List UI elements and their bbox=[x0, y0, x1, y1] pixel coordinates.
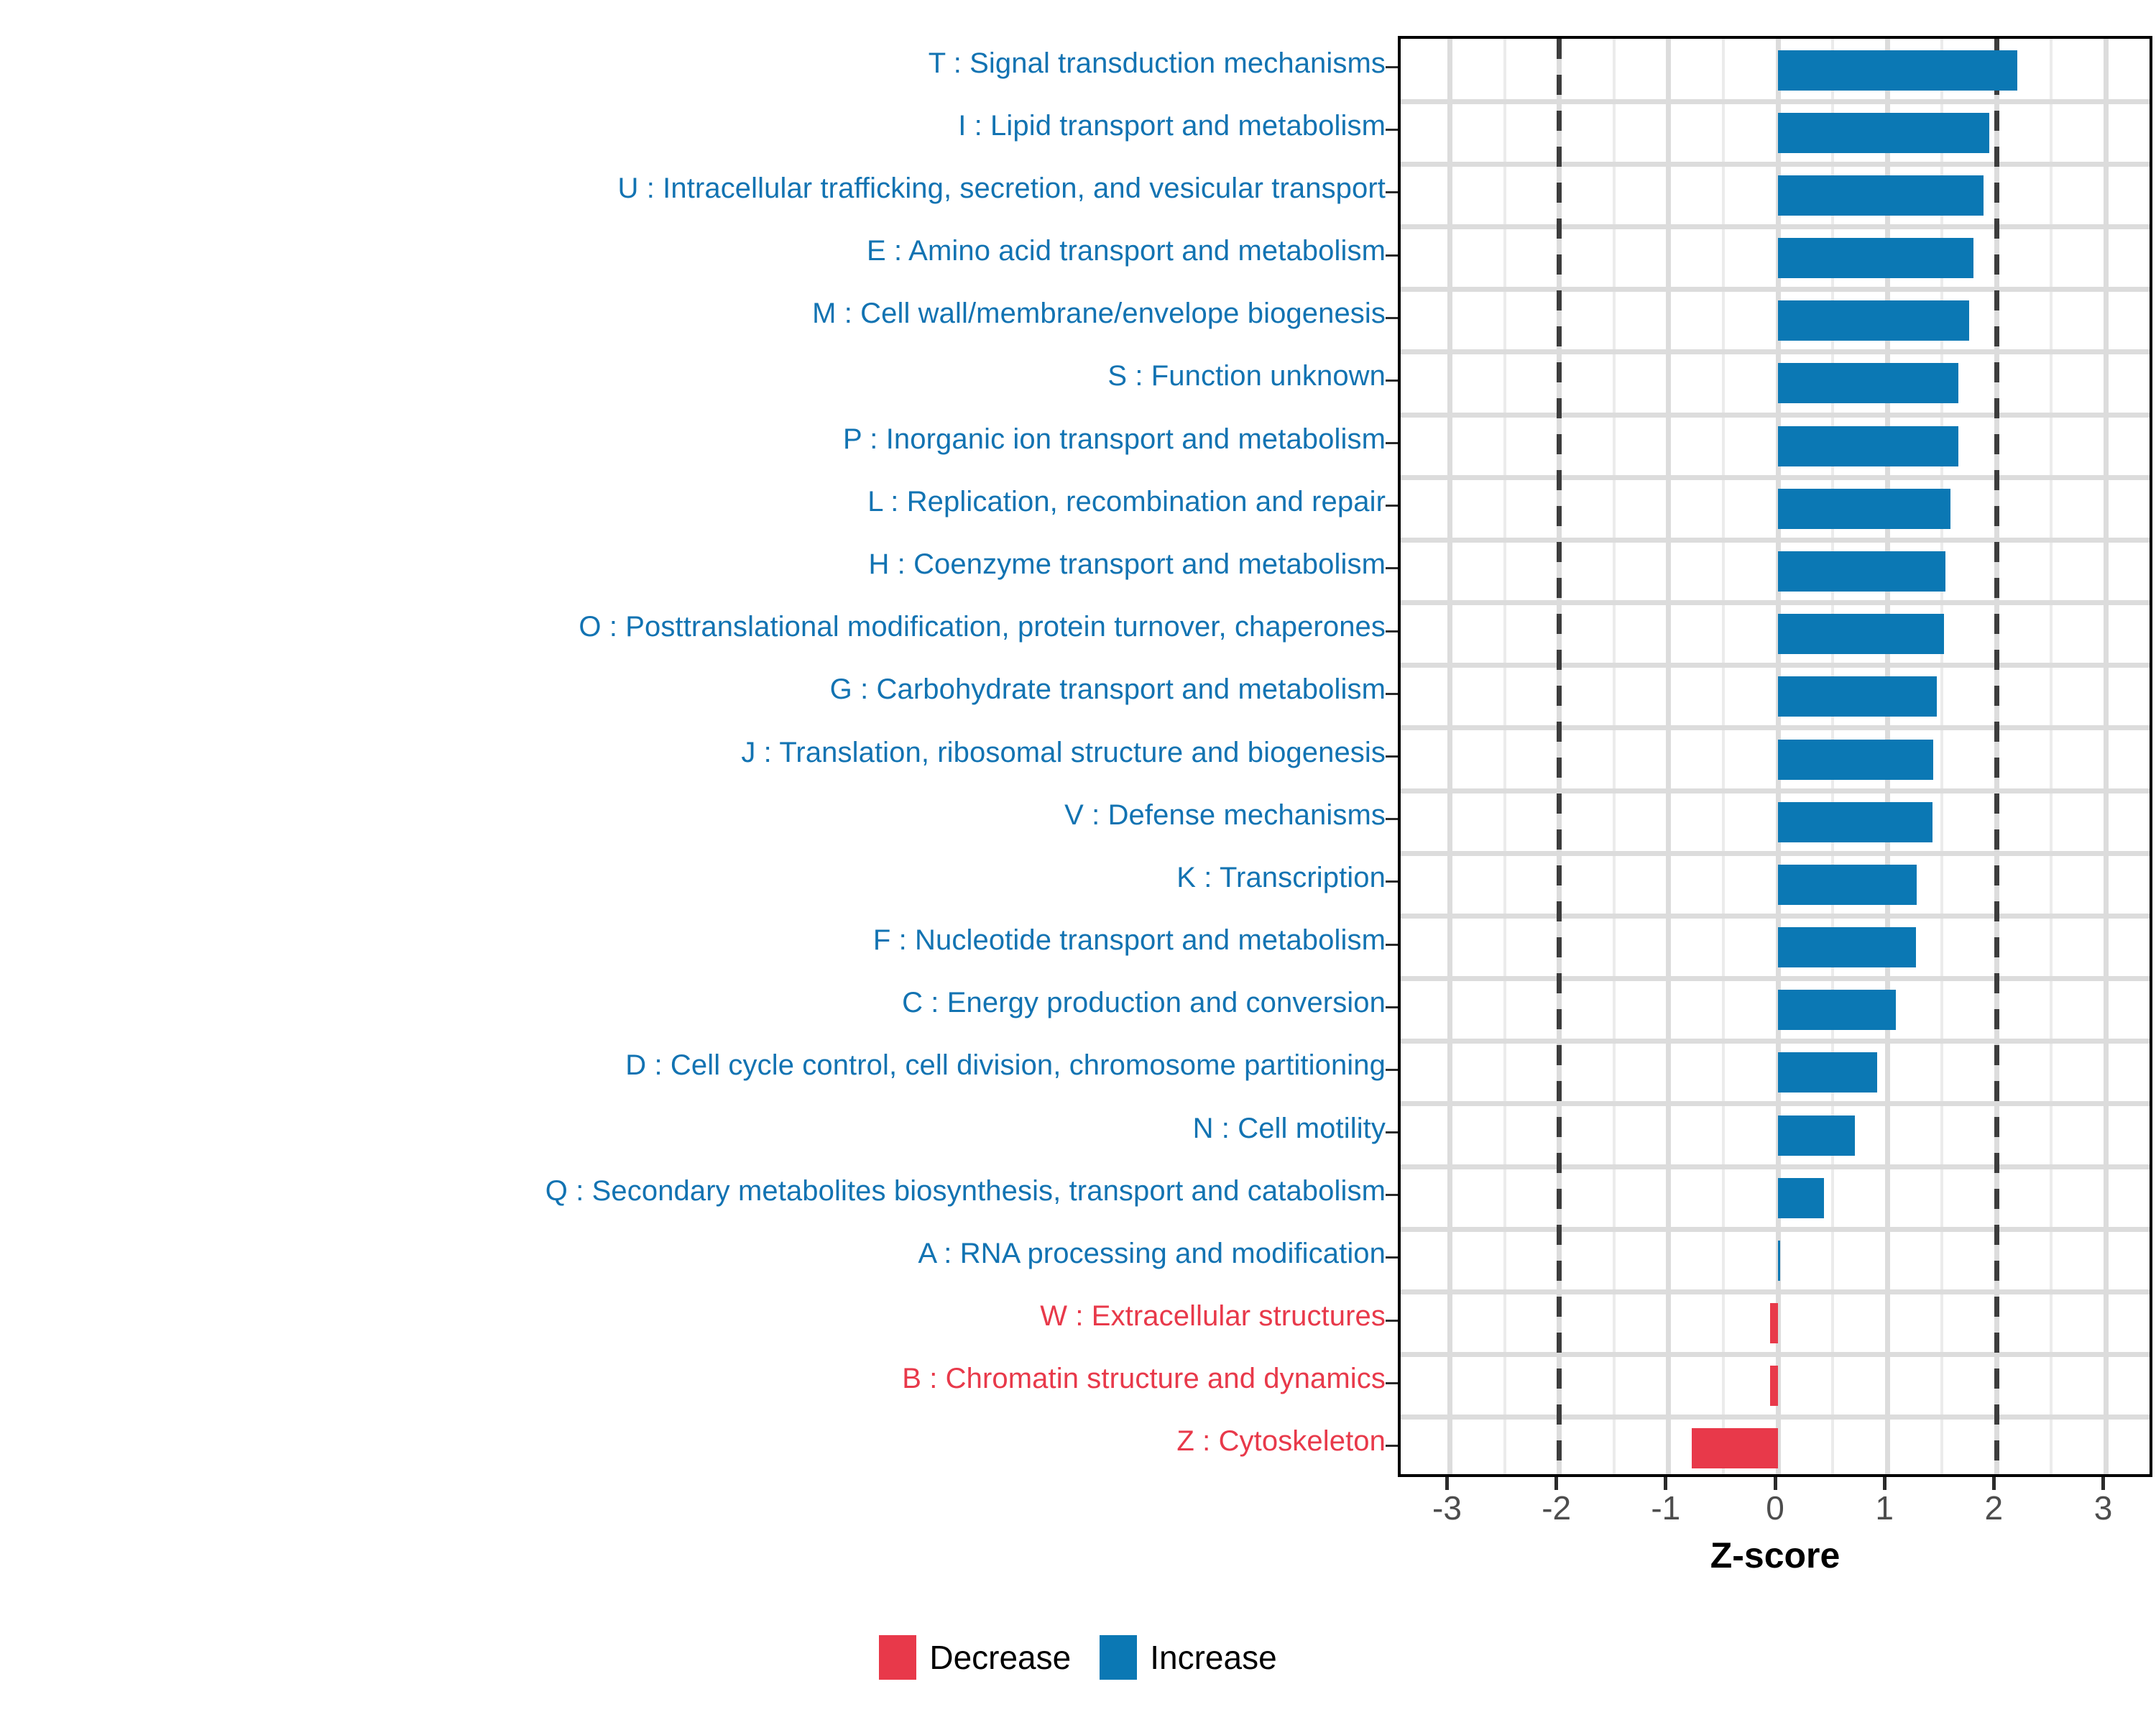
y-gridline bbox=[1401, 349, 2150, 354]
x-gridline-major bbox=[1666, 39, 1671, 1474]
y-axis-tick bbox=[1386, 567, 1398, 569]
x-axis-tick bbox=[1445, 1477, 1449, 1490]
y-axis-tick bbox=[1386, 505, 1398, 507]
category-label: V : Defense mechanisms bbox=[0, 801, 1386, 829]
threshold-line bbox=[1994, 39, 1999, 1474]
y-gridline bbox=[1401, 538, 2150, 543]
y-gridline bbox=[1401, 600, 2150, 605]
y-axis-tick bbox=[1386, 944, 1398, 946]
plot-panel bbox=[1398, 36, 2152, 1477]
y-axis-tick bbox=[1386, 191, 1398, 193]
y-axis-tick bbox=[1386, 1069, 1398, 1071]
bar bbox=[1778, 113, 1989, 153]
bar bbox=[1778, 802, 1932, 842]
bar bbox=[1778, 426, 1958, 466]
y-axis-tick bbox=[1386, 1320, 1398, 1322]
y-gridline bbox=[1401, 1289, 2150, 1294]
category-label-text: W : Extracellular structures bbox=[1040, 1302, 1386, 1330]
bar bbox=[1770, 1366, 1778, 1406]
category-label-text: T : Signal transduction mechanisms bbox=[929, 49, 1386, 78]
category-label-text: C : Energy production and conversion bbox=[902, 988, 1386, 1017]
x-axis-tick-label: -2 bbox=[1542, 1491, 1571, 1524]
x-axis-tick-label: 1 bbox=[1875, 1491, 1894, 1524]
y-gridline bbox=[1401, 1414, 2150, 1420]
y-axis-tick bbox=[1386, 880, 1398, 883]
category-label-text: O : Posttranslational modification, prot… bbox=[579, 612, 1386, 641]
bar bbox=[1778, 175, 1984, 216]
category-label: B : Chromatin structure and dynamics bbox=[0, 1364, 1386, 1393]
category-label-text: Q : Secondary metabolites biosynthesis, … bbox=[545, 1177, 1386, 1205]
y-axis-tick bbox=[1386, 1131, 1398, 1133]
category-label: N : Cell motility bbox=[0, 1114, 1386, 1143]
bar bbox=[1778, 50, 2017, 91]
bar bbox=[1778, 1052, 1877, 1092]
category-label: P : Inorganic ion transport and metaboli… bbox=[0, 425, 1386, 454]
y-gridline bbox=[1401, 663, 2150, 668]
x-gridline-minor bbox=[1503, 39, 1506, 1474]
y-gridline bbox=[1401, 1101, 2150, 1106]
bar bbox=[1778, 1178, 1824, 1218]
category-label-text: D : Cell cycle control, cell division, c… bbox=[625, 1051, 1386, 1080]
category-label: T : Signal transduction mechanisms bbox=[0, 49, 1386, 78]
y-gridline bbox=[1401, 287, 2150, 292]
x-axis-tick bbox=[1554, 1477, 1558, 1490]
bar bbox=[1778, 1115, 1855, 1156]
bar bbox=[1692, 1428, 1778, 1468]
category-label: L : Replication, recombination and repai… bbox=[0, 487, 1386, 516]
bar bbox=[1778, 740, 1933, 780]
y-gridline bbox=[1401, 413, 2150, 418]
category-label: W : Extracellular structures bbox=[0, 1302, 1386, 1330]
x-axis-tick-label: 2 bbox=[1985, 1491, 2004, 1524]
bar bbox=[1778, 238, 1973, 278]
y-axis-tick bbox=[1386, 317, 1398, 319]
y-axis-tick bbox=[1386, 1194, 1398, 1196]
bar bbox=[1778, 1241, 1780, 1281]
y-gridline bbox=[1401, 224, 2150, 229]
y-gridline bbox=[1401, 1164, 2150, 1169]
chart-legend: DecreaseIncrease bbox=[0, 1635, 2156, 1680]
y-axis-tick bbox=[1386, 254, 1398, 257]
x-axis-tick-label: 0 bbox=[1766, 1491, 1784, 1524]
category-label: K : Transcription bbox=[0, 863, 1386, 892]
category-label-text: B : Chromatin structure and dynamics bbox=[902, 1364, 1386, 1393]
category-label-text: U : Intracellular trafficking, secretion… bbox=[618, 174, 1386, 203]
y-gridline bbox=[1401, 1039, 2150, 1044]
category-label: A : RNA processing and modification bbox=[0, 1239, 1386, 1268]
y-axis-tick bbox=[1386, 1382, 1398, 1384]
y-axis-tick bbox=[1386, 818, 1398, 820]
bar bbox=[1778, 927, 1916, 967]
category-label: H : Coenzyme transport and metabolism bbox=[0, 550, 1386, 579]
x-axis-tick-labels: -3-2-10123 bbox=[1398, 1491, 2152, 1532]
category-label-text: A : RNA processing and modification bbox=[918, 1239, 1386, 1268]
y-gridline bbox=[1401, 851, 2150, 856]
category-label: Z : Cytoskeleton bbox=[0, 1427, 1386, 1455]
bar bbox=[1778, 614, 1944, 654]
bar bbox=[1778, 676, 1937, 717]
x-axis-tick-marks bbox=[1398, 1477, 2152, 1490]
x-axis-title: Z-score bbox=[1398, 1535, 2152, 1576]
category-label-text: S : Function unknown bbox=[1107, 362, 1386, 390]
x-axis-tick-label: -1 bbox=[1651, 1491, 1680, 1524]
y-gridline bbox=[1401, 162, 2150, 167]
category-label-text: N : Cell motility bbox=[1193, 1114, 1386, 1143]
x-axis-tick bbox=[1883, 1477, 1886, 1490]
category-label: D : Cell cycle control, cell division, c… bbox=[0, 1051, 1386, 1080]
legend-label: Decrease bbox=[929, 1641, 1071, 1674]
y-axis-tick bbox=[1386, 693, 1398, 695]
category-label-text: J : Translation, ribosomal structure and… bbox=[741, 738, 1386, 767]
y-gridline bbox=[1401, 1352, 2150, 1357]
category-label-column: T : Signal transduction mechanismsI : Li… bbox=[0, 36, 1386, 1477]
x-gridline-minor bbox=[1722, 39, 1725, 1474]
bar bbox=[1778, 551, 1945, 592]
x-axis-tick bbox=[1774, 1477, 1777, 1490]
x-gridline-minor bbox=[1613, 39, 1616, 1474]
y-axis-tick bbox=[1386, 442, 1398, 444]
category-label: Q : Secondary metabolites biosynthesis, … bbox=[0, 1177, 1386, 1205]
category-label-text: G : Carbohydrate transport and metabolis… bbox=[830, 675, 1386, 704]
bar bbox=[1778, 865, 1917, 905]
category-label-text: P : Inorganic ion transport and metaboli… bbox=[843, 425, 1386, 454]
category-label: I : Lipid transport and metabolism bbox=[0, 111, 1386, 140]
bar bbox=[1778, 990, 1896, 1030]
y-gridline bbox=[1401, 788, 2150, 793]
category-label-text: F : Nucleotide transport and metabolism bbox=[873, 926, 1386, 954]
y-axis-tick bbox=[1386, 630, 1398, 632]
category-label: E : Amino acid transport and metabolism bbox=[0, 236, 1386, 265]
y-axis-tick bbox=[1386, 1256, 1398, 1259]
y-axis-tick bbox=[1386, 755, 1398, 758]
y-gridline bbox=[1401, 914, 2150, 919]
y-gridline bbox=[1401, 475, 2150, 480]
legend-swatch-increase bbox=[1100, 1635, 1137, 1680]
x-axis-tick-label: 3 bbox=[2094, 1491, 2113, 1524]
x-axis-tick bbox=[1664, 1477, 1667, 1490]
category-label-text: H : Coenzyme transport and metabolism bbox=[868, 550, 1386, 579]
category-label-text: Z : Cytoskeleton bbox=[1176, 1427, 1386, 1455]
y-axis-tick bbox=[1386, 1445, 1398, 1447]
bar bbox=[1778, 300, 1969, 341]
legend-entry[interactable]: Decrease bbox=[879, 1635, 1071, 1680]
category-label-text: K : Transcription bbox=[1176, 863, 1386, 892]
x-axis-tick bbox=[2101, 1477, 2105, 1490]
category-label: M : Cell wall/membrane/envelope biogenes… bbox=[0, 299, 1386, 328]
y-axis-tick bbox=[1386, 66, 1398, 68]
category-label-text: E : Amino acid transport and metabolism bbox=[867, 236, 1386, 265]
category-label-text: M : Cell wall/membrane/envelope biogenes… bbox=[812, 299, 1386, 328]
category-label: S : Function unknown bbox=[0, 362, 1386, 390]
y-axis-tick bbox=[1386, 379, 1398, 382]
category-label: F : Nucleotide transport and metabolism bbox=[0, 926, 1386, 954]
x-gridline-major bbox=[1447, 39, 1452, 1474]
category-label: J : Translation, ribosomal structure and… bbox=[0, 738, 1386, 767]
x-gridline-minor bbox=[2050, 39, 2053, 1474]
category-label: G : Carbohydrate transport and metabolis… bbox=[0, 675, 1386, 704]
bar bbox=[1770, 1303, 1778, 1343]
legend-entry[interactable]: Increase bbox=[1100, 1635, 1276, 1680]
y-gridline bbox=[1401, 976, 2150, 981]
bar bbox=[1778, 363, 1958, 403]
legend-swatch-decrease bbox=[879, 1635, 916, 1680]
x-axis-tick-label: -3 bbox=[1432, 1491, 1462, 1524]
y-gridline bbox=[1401, 99, 2150, 104]
y-gridline bbox=[1401, 1227, 2150, 1232]
category-label-text: L : Replication, recombination and repai… bbox=[867, 487, 1386, 516]
category-label: O : Posttranslational modification, prot… bbox=[0, 612, 1386, 641]
cog-zscore-bar-chart: T : Signal transduction mechanismsI : Li… bbox=[0, 0, 2156, 1725]
category-label: C : Energy production and conversion bbox=[0, 988, 1386, 1017]
x-axis-tick bbox=[1992, 1477, 1996, 1490]
category-label: U : Intracellular trafficking, secretion… bbox=[0, 174, 1386, 203]
x-gridline-major bbox=[2104, 39, 2109, 1474]
y-axis-tick bbox=[1386, 1006, 1398, 1008]
legend-label: Increase bbox=[1150, 1641, 1276, 1674]
threshold-line bbox=[1557, 39, 1562, 1474]
category-label-text: I : Lipid transport and metabolism bbox=[958, 111, 1386, 140]
y-gridline bbox=[1401, 725, 2150, 730]
category-label-text: V : Defense mechanisms bbox=[1064, 801, 1386, 829]
bar bbox=[1778, 489, 1950, 529]
y-axis-tick bbox=[1386, 129, 1398, 131]
